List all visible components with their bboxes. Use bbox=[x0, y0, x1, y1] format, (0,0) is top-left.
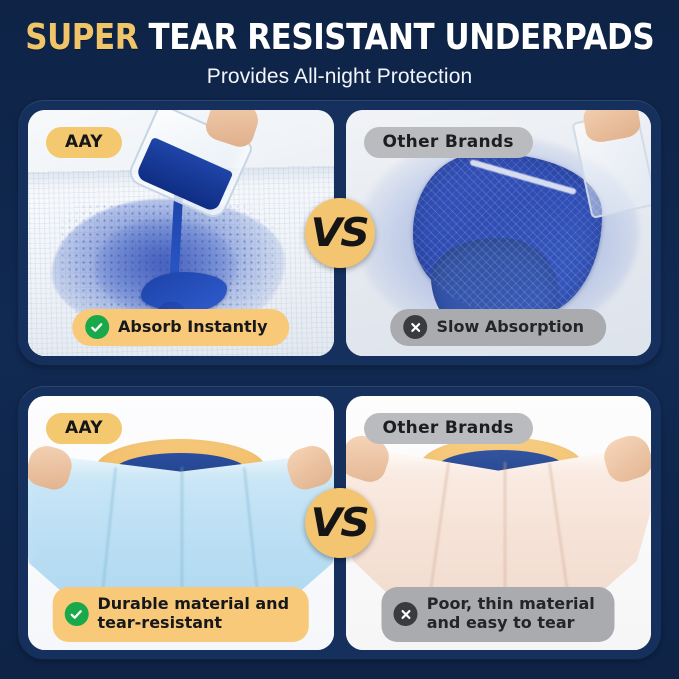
vs-label: VS bbox=[311, 211, 368, 256]
product-infographic: SUPER TEAR RESISTANT UNDERPADS Provides … bbox=[0, 0, 679, 679]
panel-other-absorption: Other Brands Slow Absorption bbox=[346, 110, 652, 356]
result-label: Absorb Instantly bbox=[118, 318, 268, 337]
result-label-multiline: Durable material and tear-resistant bbox=[97, 595, 289, 633]
result-label: Slow Absorption bbox=[436, 318, 584, 337]
liquid-pool bbox=[141, 272, 227, 311]
result-badge-slow-absorption: Slow Absorption bbox=[390, 309, 606, 346]
result-badge-durable: Durable material and tear-resistant bbox=[52, 587, 309, 642]
brand-badge-aay: AAY bbox=[46, 127, 122, 158]
vs-badge-durability: VS bbox=[305, 488, 375, 558]
result-line-1: Poor, thin material bbox=[427, 595, 595, 614]
brand-badge-aay: AAY bbox=[46, 413, 122, 444]
panel-aay-absorption: AAY Absorb Instantly bbox=[28, 110, 334, 356]
result-badge-poor-thin: Poor, thin material and easy to tear bbox=[382, 587, 615, 642]
result-line-2: tear-resistant bbox=[97, 614, 289, 633]
x-circle-icon bbox=[394, 602, 418, 626]
result-line-2: and easy to tear bbox=[427, 614, 595, 633]
check-circle-icon bbox=[64, 602, 88, 626]
check-circle-icon bbox=[85, 315, 109, 339]
result-line-1: Durable material and bbox=[97, 595, 289, 614]
brand-badge-other: Other Brands bbox=[364, 413, 533, 444]
vs-badge-absorption: VS bbox=[305, 198, 375, 268]
header: SUPER TEAR RESISTANT UNDERPADS Provides … bbox=[0, 0, 679, 96]
result-badge-absorb-instantly: Absorb Instantly bbox=[72, 309, 290, 346]
title-rest: TEAR RESISTANT UNDERPADS bbox=[148, 17, 654, 58]
panel-aay-durability: AAY Durable material and tear-resistant bbox=[28, 396, 334, 650]
panel-other-durability: Other Brands Poor, thin material and eas… bbox=[346, 396, 652, 650]
result-label-multiline: Poor, thin material and easy to tear bbox=[427, 595, 595, 633]
page-title: SUPER TEAR RESISTANT UNDERPADS bbox=[25, 18, 654, 58]
x-circle-icon bbox=[403, 315, 427, 339]
vs-label: VS bbox=[311, 501, 368, 546]
title-highlight: SUPER bbox=[25, 17, 138, 58]
page-subtitle: Provides All-night Protection bbox=[207, 65, 473, 89]
brand-badge-other: Other Brands bbox=[364, 127, 533, 158]
